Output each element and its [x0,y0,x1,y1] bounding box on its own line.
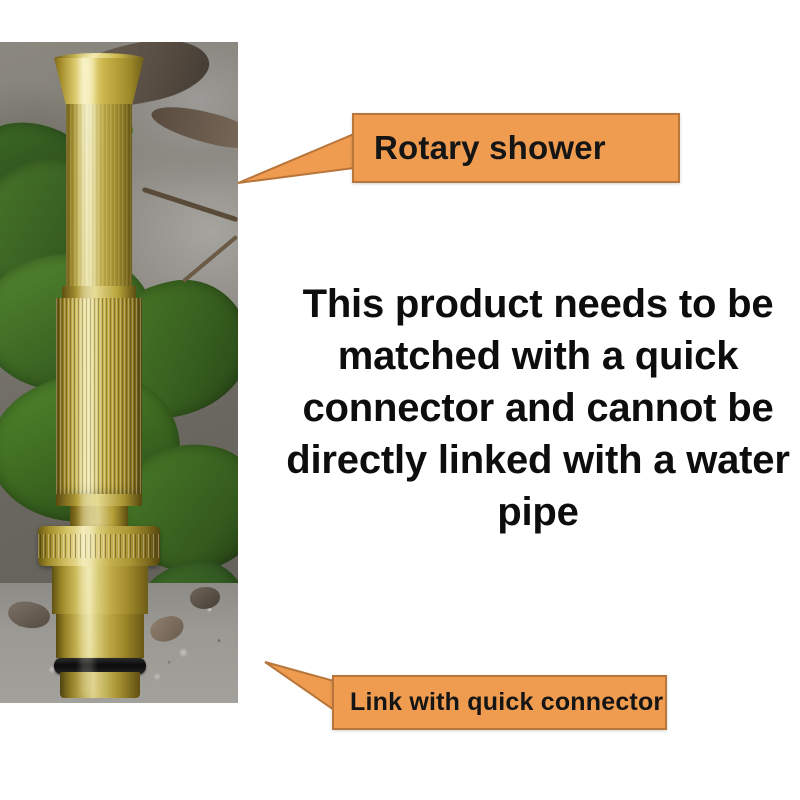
top-callout-pointer [238,134,354,183]
callout-quick-connector-label: Link with quick connector [350,688,663,717]
nozzle-neck [70,506,128,528]
product-infographic: Rotary shower This product needs to be m… [0,0,800,800]
brass-nozzle [0,42,238,703]
knurled-grip [56,298,142,498]
connector-body-upper [52,566,148,614]
nozzle-barrel [66,104,132,288]
product-description-text: This product needs to be matched with a … [282,278,794,538]
nozzle-head [54,58,144,108]
knurled-grip-base [56,494,142,506]
connector-body-lower [56,614,144,658]
callout-rotary-shower: Rotary shower [352,113,680,183]
callout-rotary-shower-label: Rotary shower [374,129,606,167]
callout-quick-connector: Link with quick connector [332,675,667,730]
connector-flange [38,526,160,566]
connector-base [60,672,140,698]
product-photo [0,42,238,703]
bottom-callout-pointer [265,662,334,710]
